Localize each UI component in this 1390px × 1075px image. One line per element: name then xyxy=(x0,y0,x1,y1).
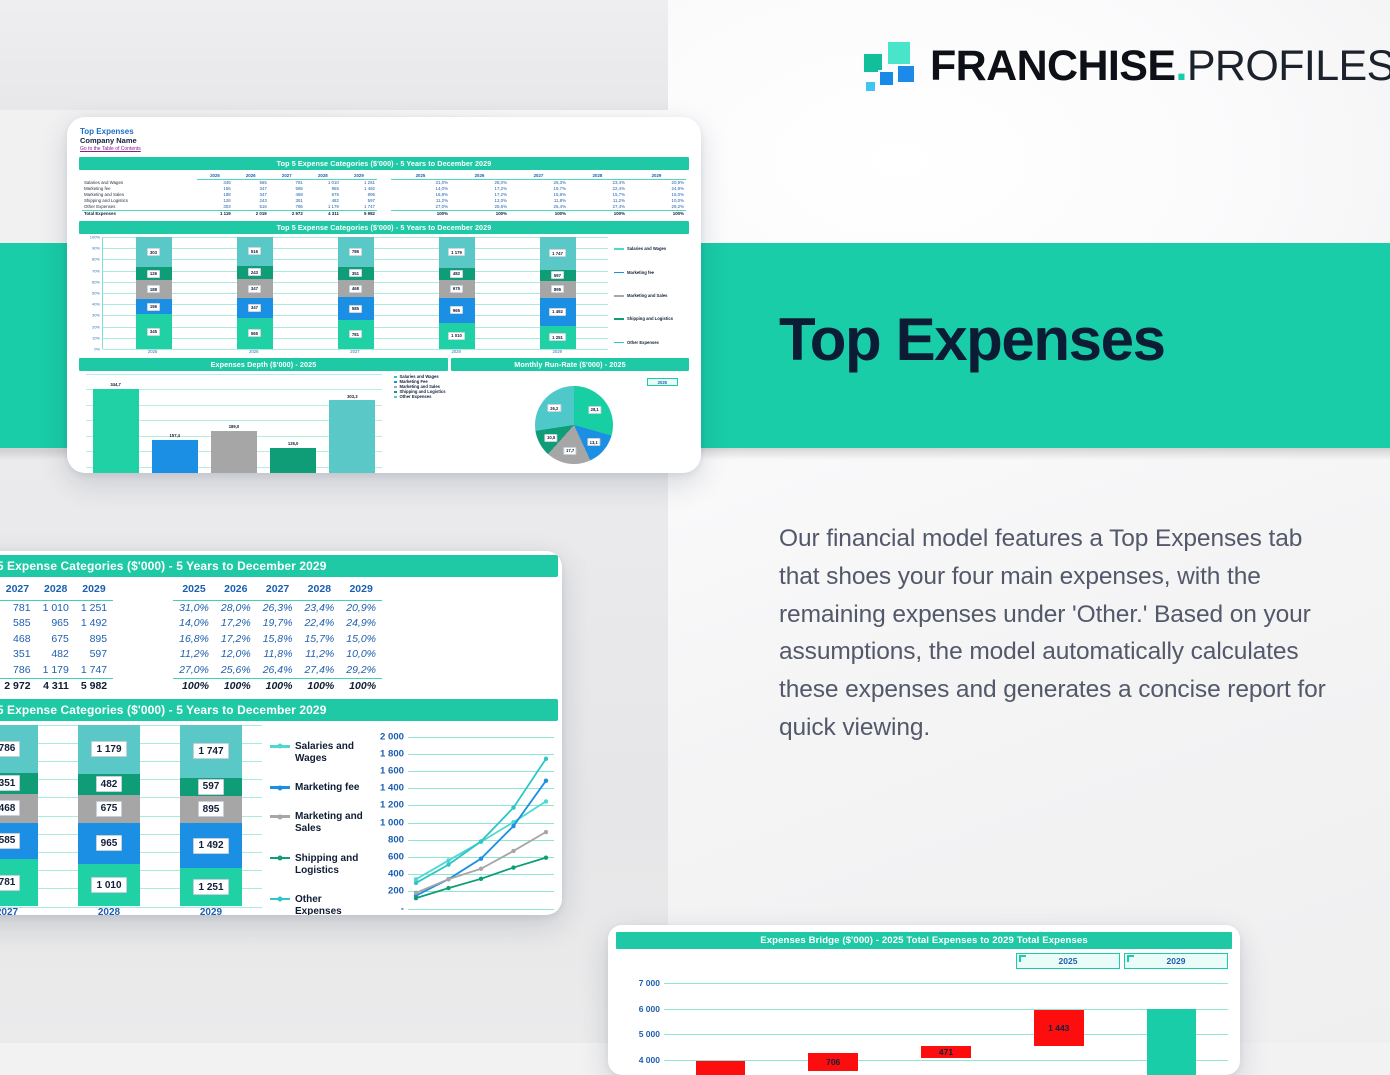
legend-marker-icon xyxy=(270,745,290,748)
legend-label: Other Expenses xyxy=(400,394,432,399)
bar-value-label: 243 xyxy=(248,268,261,276)
bar-value-label: 471 xyxy=(939,1047,953,1057)
legend-marker-icon xyxy=(394,381,397,384)
bar-value-label: 126 xyxy=(147,270,160,278)
legend-label: Marketing and Sales xyxy=(295,811,370,835)
axis-tick: 70% xyxy=(92,268,100,273)
bridge-year-filters: 2025 2029 xyxy=(1016,953,1228,969)
table-row: 16,8%17,2%15,8%15,7%15,0% xyxy=(173,632,382,648)
axis-tick: 2029 xyxy=(533,915,554,916)
bar-rect xyxy=(211,431,257,473)
axis-tick: 1 200 xyxy=(380,800,404,811)
waterfall-bar: 1 443 xyxy=(1034,1010,1084,1047)
legend-label: Other Expenses xyxy=(627,340,659,345)
table-row: 11,2%12,0%11,8%11,2%10,0% xyxy=(173,647,382,663)
bar-column: 303,3 xyxy=(323,374,382,473)
axis-tick: 2026 xyxy=(439,915,460,916)
bar-value-label: 468 xyxy=(349,285,362,293)
legend-marker-icon xyxy=(394,391,397,394)
axis-tick: 1 000 xyxy=(380,817,404,828)
bar-value-label: 482 xyxy=(96,776,123,792)
band-monthly-run-rate: Monthly Run-Rate ($'000) - 2025 xyxy=(451,358,689,371)
bar-value-label: 965 xyxy=(450,306,463,314)
screenshot-card-expense-detail: Top 5 Expense Categories ($'000) - 5 Yea… xyxy=(0,551,562,915)
bar-value-label: 303,3 xyxy=(347,394,357,399)
legend-item: Salaries and Wages xyxy=(614,246,688,251)
legend-item: Marketing fee xyxy=(614,270,688,275)
legend-marker-icon xyxy=(614,248,624,250)
chart-stacked-left: 7863514685857811 1794826759651 0101 7475… xyxy=(0,725,262,916)
table-row: 5167861 1791 747 xyxy=(0,663,113,679)
bar-column: 157,4 xyxy=(145,374,204,473)
legend-label: Shipping and Logistics xyxy=(295,853,370,877)
stacked-bar-column: 786351468585781 xyxy=(338,237,374,349)
bar-value-label: 781 xyxy=(0,875,20,891)
sheet-title: Top Expenses xyxy=(80,127,688,136)
axis-tick: 1 400 xyxy=(380,783,404,794)
bar-column: 189,0 xyxy=(204,374,263,473)
bridge-filter-2029[interactable]: 2029 xyxy=(1124,953,1228,969)
axis-tick: 5 000 xyxy=(639,1029,660,1039)
bar-value-label: 516 xyxy=(248,247,261,255)
brand-wordmark: FRANCHISE.PROFILES xyxy=(930,45,1390,88)
table-row: 3475859651 492 xyxy=(0,616,113,632)
bar-value-label: 1 747 xyxy=(549,249,566,257)
bar-value-label: 565 xyxy=(248,329,261,337)
bar-value-label: 344,7 xyxy=(110,382,120,387)
table-row: 27,0%25,6%26,4%27,4%29,2% xyxy=(173,663,382,679)
hero-description: Our financial model features a Top Expen… xyxy=(779,520,1339,747)
bar-value-label: 188 xyxy=(147,285,160,293)
bar-column: 126,0 xyxy=(264,374,323,473)
sheet-company: Company Name xyxy=(80,136,688,145)
pie-slice-label: 10,5 xyxy=(544,434,557,442)
brand-dot: . xyxy=(1175,42,1186,90)
bg-panel-top-left xyxy=(0,0,668,110)
axis-tick: 2029 xyxy=(539,349,575,354)
legend-marker-icon xyxy=(614,272,624,274)
legend-marker-icon xyxy=(614,342,624,344)
bar-rect xyxy=(329,400,375,473)
table-row: 14,0%17,2%19,7%22,4%24,9% xyxy=(173,616,382,632)
legend-item: Marketing fee xyxy=(270,782,370,794)
bar-value-label: 347 xyxy=(248,304,261,312)
band-expense-categories-1: Top 5 Expense Categories ($'000) - 5 Yea… xyxy=(79,157,689,170)
bar-value-label: 786 xyxy=(0,741,20,757)
legend-marker-icon xyxy=(270,786,290,789)
band-expenses-depth: Expenses Depth ($'000) - 2025 xyxy=(79,358,448,371)
legend-item: Marketing and Sales xyxy=(270,811,370,835)
left-card-tables: 20262027 20282029 5657811 0101 251 34758… xyxy=(0,577,562,697)
band-expense-categories-2: Top 5 Expense Categories ($'000) - 5 Yea… xyxy=(79,221,689,234)
axis-tick: 2028 xyxy=(438,349,474,354)
legend-item: Shipping and Logistics xyxy=(270,853,370,877)
bar-value-label: 351 xyxy=(349,269,362,277)
axis-tick: 1 800 xyxy=(380,748,404,759)
axis-tick: 30% xyxy=(92,313,100,318)
band-expenses-bridge: Expenses Bridge ($'000) - 2025 Total Exp… xyxy=(616,932,1232,949)
chart-expense-trend-lines: -2004006008001 0001 2001 4001 6001 8002 … xyxy=(370,725,562,916)
table-row: 243351482597 xyxy=(0,647,113,663)
pie-slice-label: 17,7 xyxy=(563,447,576,455)
bar-rect xyxy=(152,440,198,473)
axis-tick: 2027 xyxy=(0,907,38,916)
axis-tick: 50% xyxy=(92,291,100,296)
page-title: Top Expenses xyxy=(779,305,1165,374)
legend-marker-icon xyxy=(270,815,290,818)
axis-tick: 400 xyxy=(388,869,404,880)
axis-tick: 0% xyxy=(94,347,100,352)
axis-tick: 200 xyxy=(388,886,404,897)
toc-link[interactable]: Go to the Table of Contents xyxy=(80,145,688,153)
bar-value-label: 597 xyxy=(551,271,564,279)
legend-marker-icon xyxy=(394,386,397,389)
bar-value-label: 585 xyxy=(349,305,362,313)
axis-tick: 4 000 xyxy=(639,1055,660,1065)
bar-value-label: 1 747 xyxy=(193,743,228,759)
bar-value-label: 303 xyxy=(147,248,160,256)
band-left-categories-1: Top 5 Expense Categories ($'000) - 5 Yea… xyxy=(0,555,558,577)
legend-label: Other Expenses xyxy=(295,894,370,915)
legend-label: Marketing and Sales xyxy=(627,293,668,298)
legend-marker-icon xyxy=(270,857,290,860)
axis-tick: 100% xyxy=(90,235,100,240)
bar-value-label: 1 179 xyxy=(448,248,465,256)
axis-tick: 6 000 xyxy=(639,1004,660,1014)
chart-legend-left: Salaries and WagesMarketing feeMarketing… xyxy=(262,725,370,916)
legend-label: Marketing fee xyxy=(295,782,359,794)
waterfall-bar: 706 xyxy=(808,1053,858,1071)
stacked-bar-column: 303126188156345 xyxy=(136,237,172,349)
line-series-group xyxy=(408,737,554,909)
bar-column: 344,7 xyxy=(86,374,145,473)
legend-label: Salaries and Wages xyxy=(627,246,666,251)
waterfall-bar: 471 xyxy=(921,1046,971,1058)
axis-tick: 800 xyxy=(388,834,404,845)
bar-value-label: 189,0 xyxy=(229,424,239,429)
bar-value-label: 675 xyxy=(96,801,123,817)
legend-item: Other Expenses xyxy=(394,394,460,399)
bar-value-label: 1 251 xyxy=(193,879,228,895)
waterfall-bar xyxy=(1147,1009,1197,1075)
legend-marker-icon xyxy=(614,295,624,297)
chart-monthly-run-rate-pie: 28,113,117,710,526,2 xyxy=(535,386,613,464)
axis-tick: 2027 xyxy=(337,349,373,354)
band-left-categories-2: Top 5 Expense Categories ($'000) - 5 Yea… xyxy=(0,699,558,721)
legend-item: Other Expenses xyxy=(614,340,688,345)
stacked-bar-column: 1 7475978951 4921 251 xyxy=(180,725,242,907)
table-row-total: 2 0192 9724 3115 982 xyxy=(0,679,113,695)
bar-value-label: 781 xyxy=(349,330,362,338)
axis-tick: 90% xyxy=(92,246,100,251)
screenshot-card-expenses-bridge: Expenses Bridge ($'000) - 2025 Total Exp… xyxy=(608,925,1240,1075)
axis-tick: 2025 xyxy=(135,349,171,354)
legend-label: Shipping and Logistics xyxy=(627,316,673,321)
table-row: 5657811 0101 251 xyxy=(0,600,113,616)
screenshot-card-top-expenses: Top Expenses Company Name Go to the Tabl… xyxy=(67,117,701,473)
bar-value-label: 1 492 xyxy=(549,308,566,316)
brand-name-light: PROFILES xyxy=(1187,42,1390,90)
legend-marker-icon xyxy=(394,396,397,399)
axis-tick: - xyxy=(401,903,404,914)
bar-value-label: 347 xyxy=(248,285,261,293)
five-squares-logo-icon xyxy=(852,38,914,94)
bar-value-label: 126,0 xyxy=(288,441,298,446)
legend-marker-icon xyxy=(614,318,624,320)
stacked-bar-column: 1 1794826759651 010 xyxy=(78,725,140,907)
bar-value-label: 585 xyxy=(0,833,20,849)
pie-slice-label: 26,2 xyxy=(548,404,561,412)
bar-value-label: 597 xyxy=(198,779,225,795)
axis-tick: 2 000 xyxy=(380,731,404,742)
bar-value-label: 965 xyxy=(96,835,123,851)
waterfall-bar xyxy=(696,1061,746,1075)
stacked-bar-column: 786351468585781 xyxy=(0,725,38,907)
legend-item: Shipping and Logistics xyxy=(614,316,688,321)
axis-tick: 10% xyxy=(92,335,100,340)
axis-tick: 20% xyxy=(92,324,100,329)
bridge-plot-area: 7064711 443 xyxy=(664,973,1228,1075)
axis-tick: 2027 xyxy=(470,915,491,916)
axis-tick: 7 000 xyxy=(639,978,660,988)
bar-value-label: 706 xyxy=(826,1057,840,1067)
bar-value-label: 482 xyxy=(450,270,463,278)
table-row-total: 100%100% 100%100% 100% xyxy=(391,211,686,218)
bridge-filter-2025[interactable]: 2025 xyxy=(1016,953,1120,969)
bar-rect xyxy=(93,389,139,473)
bar-value-label: 1 251 xyxy=(549,333,566,341)
axis-tick: 2028 xyxy=(78,907,140,916)
bar-value-label: 1 492 xyxy=(193,838,228,854)
axis-tick: 2026 xyxy=(236,349,272,354)
chart-stacked-100: 0%10%20%30%40%50%60%70%80%90%100% 303126… xyxy=(80,237,608,349)
bar-value-label: 157,4 xyxy=(170,433,180,438)
table-row: Shipping and Logistics 126243 351482 597 xyxy=(82,198,377,204)
axis-tick: 2025 xyxy=(408,915,429,916)
legend-marker-icon xyxy=(270,898,290,901)
legend-label: Marketing fee xyxy=(627,270,654,275)
bar-value-label: 895 xyxy=(198,801,225,817)
table-row-total: Total Expenses 1 1192 019 2 9724 311 5 9… xyxy=(82,211,377,218)
legend-item: Salaries and Wages xyxy=(270,741,370,765)
bar-value-label: 1 443 xyxy=(1048,1023,1069,1033)
bar-value-label: 156 xyxy=(147,303,160,311)
axis-tick: 2029 xyxy=(180,907,242,916)
chart-legend-depth: Salaries and WagesMarketing FeeMarketing… xyxy=(388,374,460,399)
brand-name-bold: FRANCHISE xyxy=(930,42,1175,90)
bar-value-label: 345 xyxy=(147,328,160,336)
axis-tick: 600 xyxy=(388,851,404,862)
axis-tick: 80% xyxy=(92,257,100,262)
stacked-bar-column: 516243347347565 xyxy=(237,237,273,349)
table-row-total: 100%100%100%100%100% xyxy=(173,679,382,695)
chart-expenses-depth: 344,7157,4189,0126,0303,3 xyxy=(80,374,388,473)
expense-value-table: 20252026 20272028 2029 Salaries and Wage… xyxy=(82,173,377,217)
bar-rect xyxy=(270,448,316,473)
chart-legend-stacked: Salaries and WagesMarketing feeMarketing… xyxy=(608,237,688,354)
bar-value-label: 468 xyxy=(0,800,20,816)
brand-logo: FRANCHISE.PROFILES xyxy=(852,38,1390,94)
bar-value-label: 675 xyxy=(450,285,463,293)
bar-value-label: 786 xyxy=(349,248,362,256)
bar-value-label: 1 010 xyxy=(448,332,465,340)
pie-slice-label: 28,1 xyxy=(588,406,601,414)
axis-tick: 2028 xyxy=(501,915,522,916)
bar-value-label: 1 179 xyxy=(91,741,126,757)
stacked-bar-column: 1 1794826759651 010 xyxy=(439,237,475,349)
legend-item: Marketing and Sales xyxy=(614,293,688,298)
bar-value-label: 895 xyxy=(551,285,564,293)
legend-item: Other Expenses xyxy=(270,894,370,915)
table-row: 31,0%28,0%26,3%23,4%20,9% xyxy=(173,600,382,616)
pie-year-filter[interactable]: 2025 xyxy=(647,378,678,386)
bar-value-label: 1 010 xyxy=(91,877,126,893)
axis-tick: 1 600 xyxy=(380,765,404,776)
axis-tick: 40% xyxy=(92,302,100,307)
left-value-table: 20262027 20282029 5657811 0101 251 34758… xyxy=(0,582,113,695)
axis-tick: 60% xyxy=(92,279,100,284)
left-percent-table: 20252026202720282029 31,0%28,0%26,3%23,4… xyxy=(173,582,382,695)
pie-slice-label: 13,1 xyxy=(587,438,600,446)
table-row: 347468675895 xyxy=(0,632,113,648)
bar-value-label: 351 xyxy=(0,775,20,791)
expense-percent-table: 20252026 20272028 2029 31,0%28,0% 26,3%2… xyxy=(391,173,686,217)
legend-marker-icon xyxy=(394,376,397,379)
stacked-bar-column: 1 7475978951 4921 251 xyxy=(540,237,576,349)
legend-label: Salaries and Wages xyxy=(295,741,370,765)
